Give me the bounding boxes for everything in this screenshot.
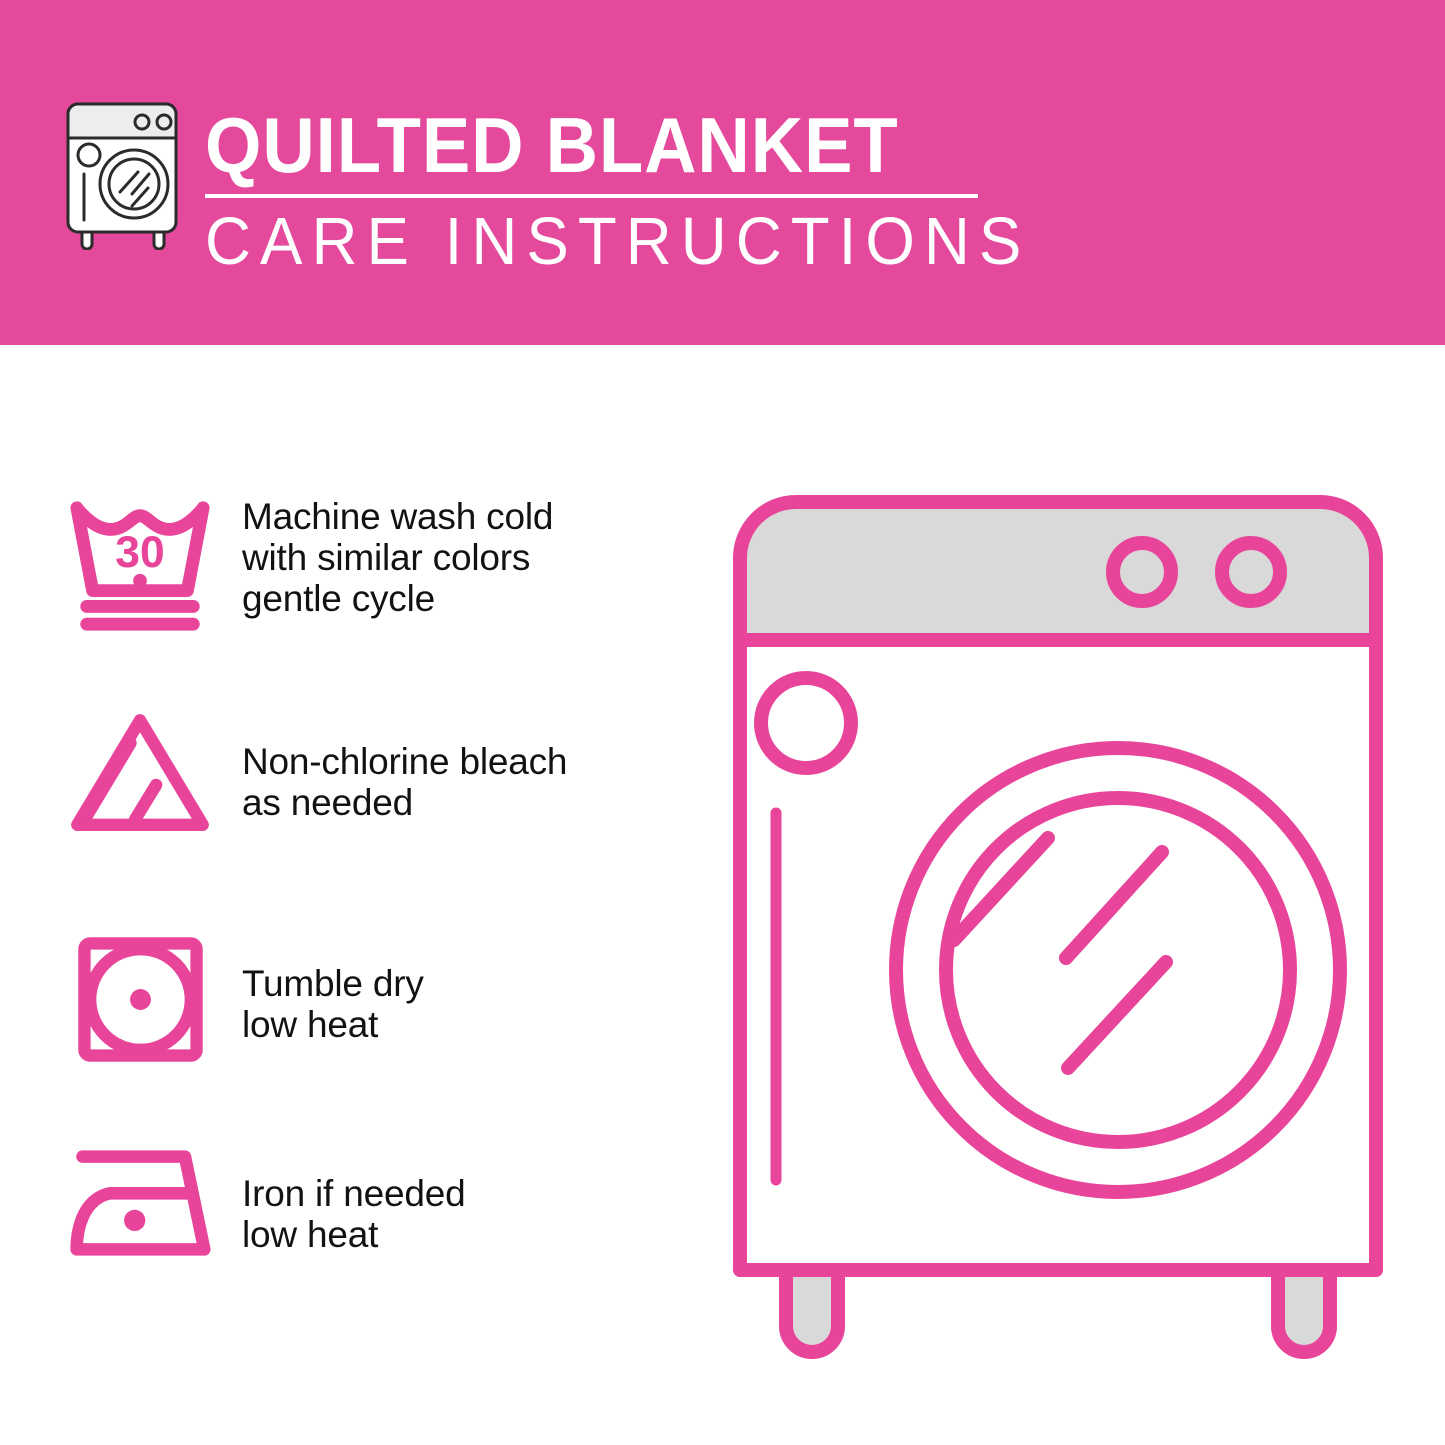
non-chlorine-bleach-triangle-icon — [60, 707, 220, 840]
drum-inner-ring — [946, 798, 1290, 1142]
page-subtitle: CARE INSTRUCTIONS — [205, 204, 956, 280]
header-washing-machine-icon — [58, 98, 186, 250]
iron-low-heat-icon — [60, 1145, 220, 1261]
title-divider — [205, 194, 978, 198]
care-instructions-page: QUILTED BLANKET CARE INSTRUCTIONS 30 — [0, 0, 1445, 1445]
care-label: Non-chlorine bleach as needed — [242, 707, 567, 823]
care-label-line: Non-chlorine bleach — [242, 741, 567, 782]
care-label-line: low heat — [242, 1004, 424, 1045]
care-label: Iron if needed low heat — [242, 1145, 465, 1255]
care-row: Iron if needed low heat — [60, 1145, 680, 1261]
drum-streak-line — [1066, 852, 1162, 958]
wash-temperature-label: 30 — [115, 528, 164, 577]
care-label-line: Machine wash cold — [242, 496, 553, 537]
care-label: Tumble dry low heat — [242, 933, 424, 1045]
drum-streak-line — [1068, 962, 1166, 1068]
leg-left — [786, 1270, 838, 1352]
care-row: Non-chlorine bleach as needed — [60, 707, 680, 840]
header-text-block: QUILTED BLANKET CARE INSTRUCTIONS — [205, 104, 995, 280]
care-label-line: low heat — [242, 1214, 465, 1255]
care-row: Tumble dry low heat — [60, 933, 680, 1066]
care-label-line: as needed — [242, 782, 567, 823]
care-label-line: gentle cycle — [242, 578, 553, 619]
care-label-line: with similar colors — [242, 537, 553, 578]
drum-outer-ring — [896, 748, 1340, 1192]
tumble-dry-low-icon — [60, 933, 220, 1066]
care-label-line: Tumble dry — [242, 963, 424, 1004]
page-title: QUILTED BLANKET — [205, 104, 940, 186]
care-label-line: Iron if needed — [242, 1173, 465, 1214]
wash-tub-30-icon: 30 — [60, 490, 220, 638]
leg-right — [1278, 1270, 1330, 1352]
care-label: Machine wash cold with similar colors ge… — [242, 490, 553, 619]
washing-machine-illustration — [718, 480, 1398, 1370]
care-row: 30 Machine wash cold with similar colors… — [60, 490, 680, 638]
dispenser-circle — [761, 678, 851, 768]
care-instruction-list: 30 Machine wash cold with similar colors… — [0, 345, 700, 1445]
header-banner: QUILTED BLANKET CARE INSTRUCTIONS — [0, 0, 1445, 345]
